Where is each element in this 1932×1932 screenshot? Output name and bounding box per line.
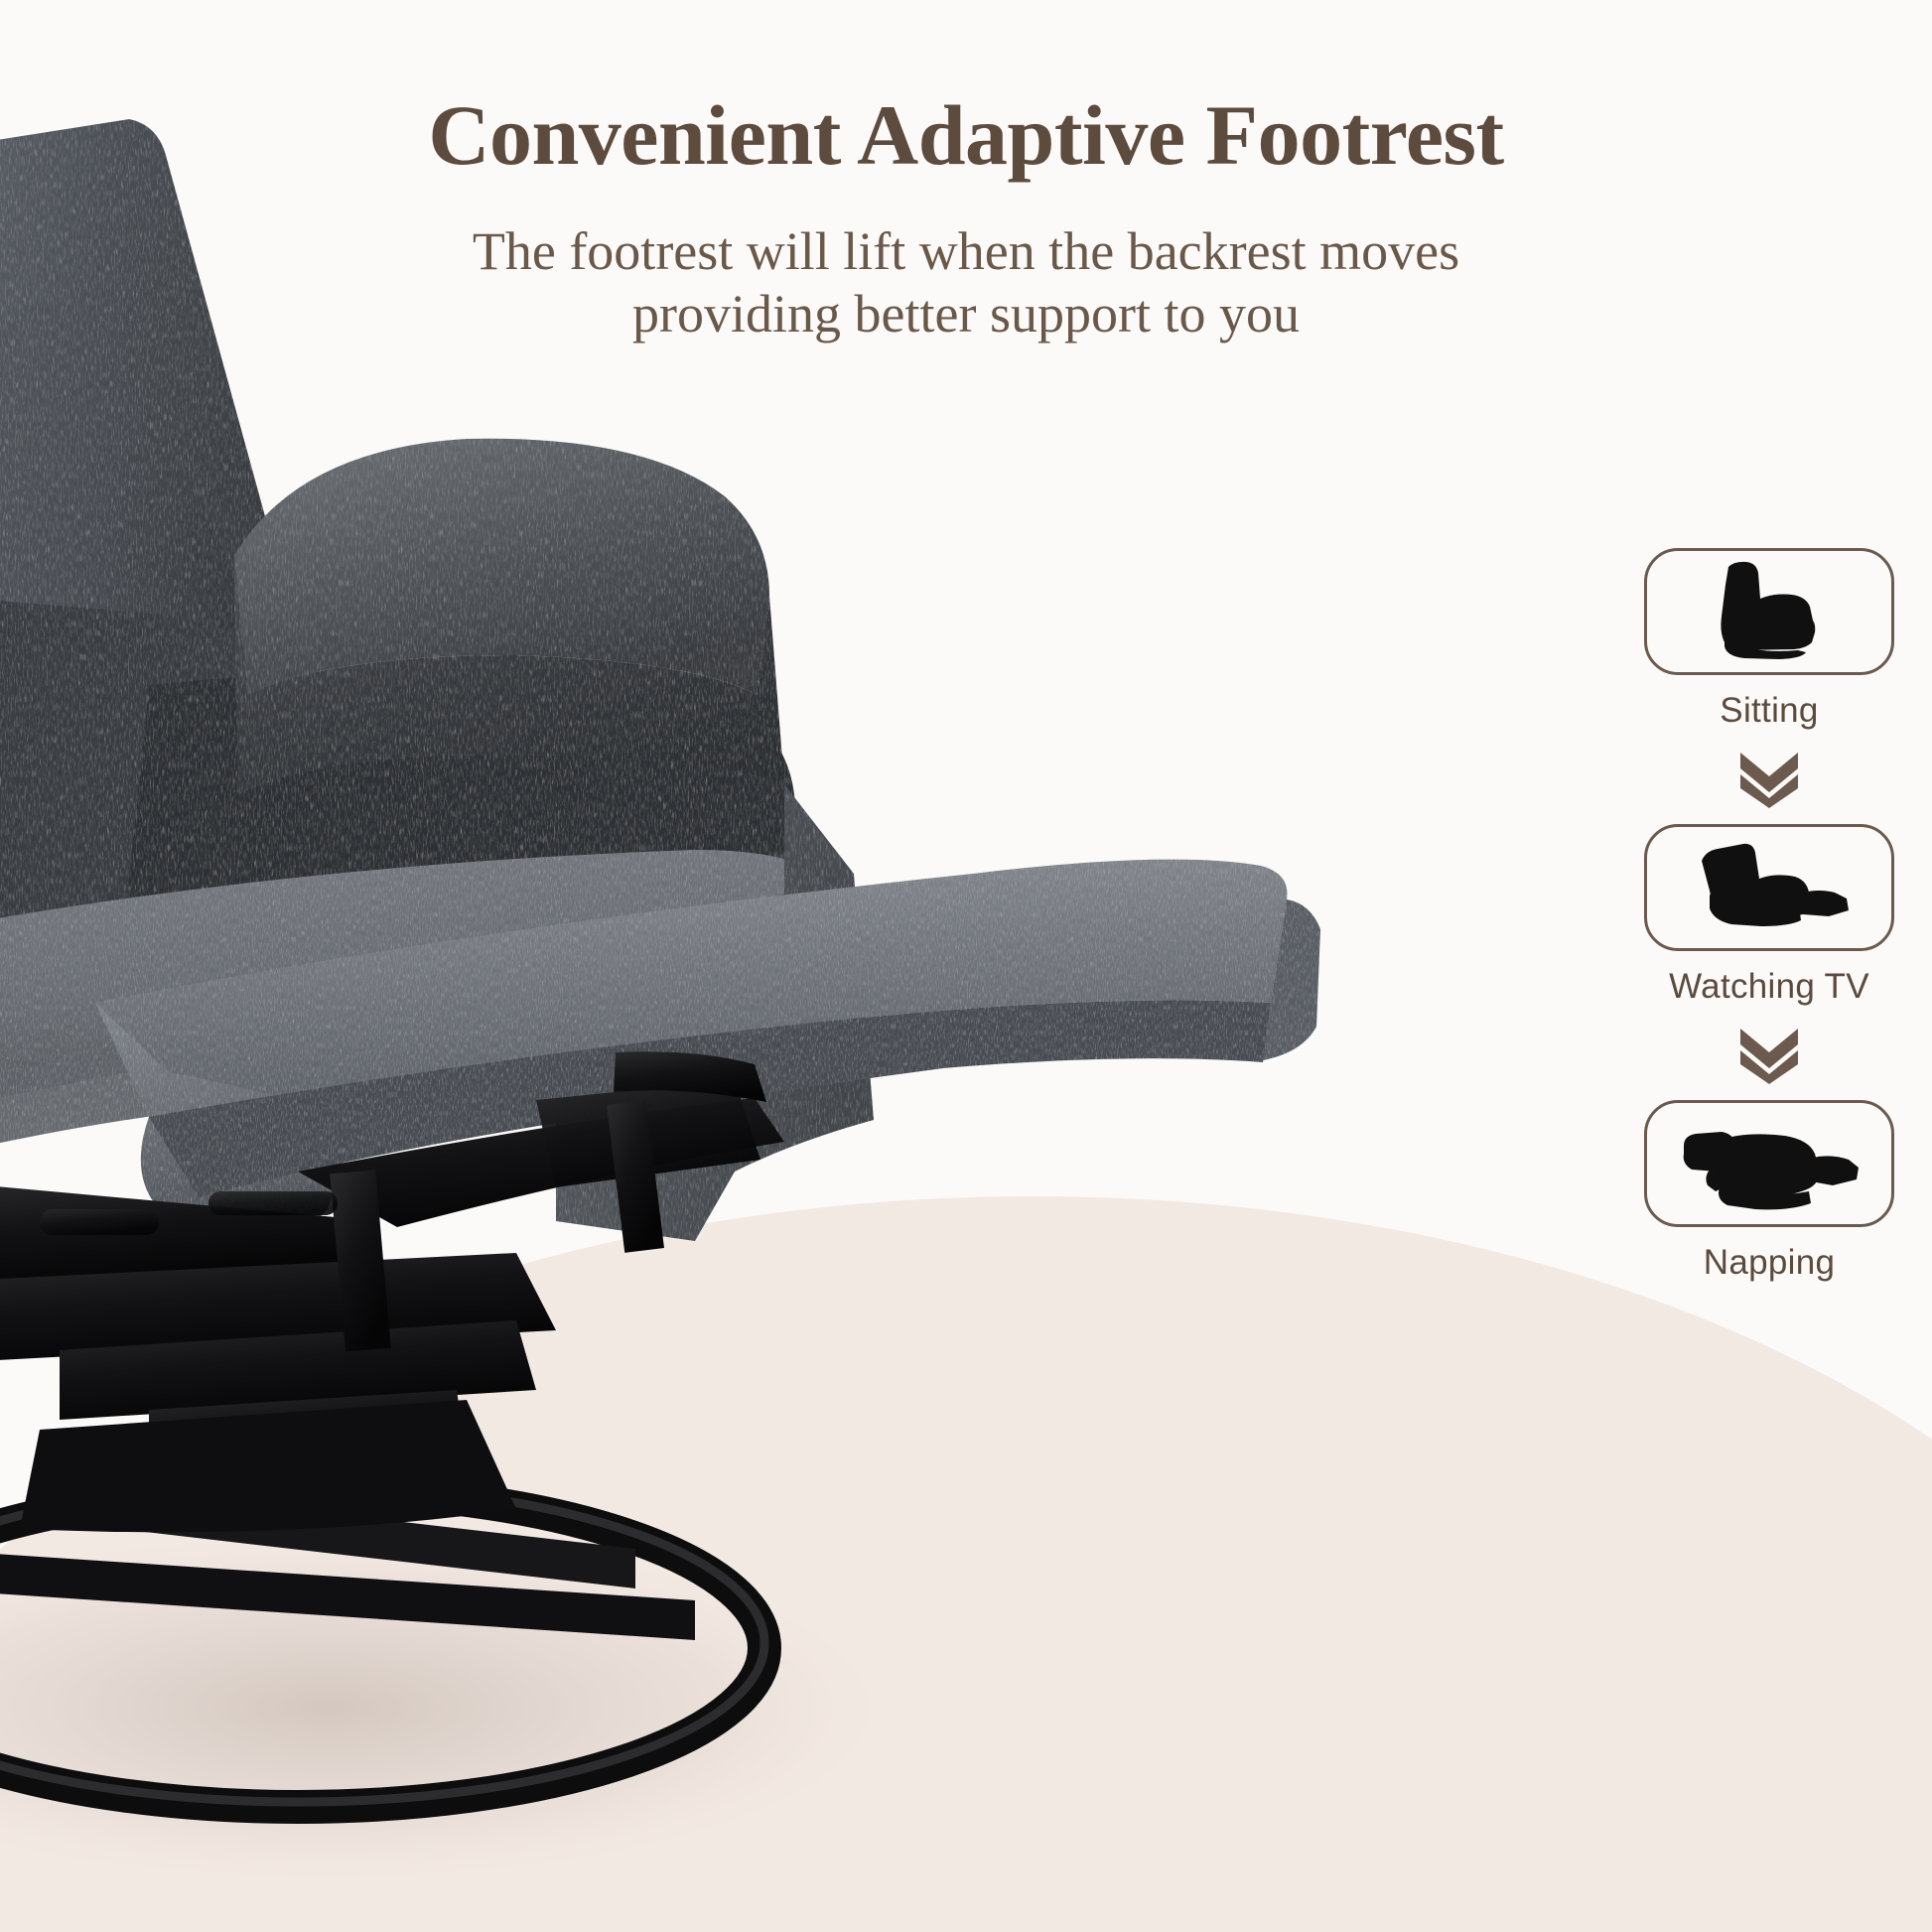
page-title: Convenient Adaptive Footrest [0, 85, 1932, 185]
state-card-watching-tv[interactable] [1644, 824, 1894, 951]
recliner-upright-icon [1695, 559, 1844, 664]
subtitle-line-2: providing better support to you [0, 283, 1932, 345]
recliner-position-sequence: Sitting Watching TV [1644, 548, 1894, 1283]
page-subtitle: The footrest will lift when the backrest… [0, 220, 1932, 345]
recliner-fully-reclined-icon [1674, 1112, 1864, 1215]
state-card-sitting[interactable] [1644, 548, 1894, 675]
recliner-partially-reclined-icon [1680, 835, 1859, 940]
double-chevron-down-icon-2 [1732, 1023, 1806, 1086]
state-label-napping: Napping [1704, 1243, 1835, 1283]
double-chevron-down-icon [1732, 747, 1806, 810]
marketing-image-canvas: Convenient Adaptive Footrest The footres… [0, 0, 1932, 1932]
base-plate [20, 1400, 516, 1532]
state-card-napping[interactable] [1644, 1100, 1894, 1227]
state-label-sitting: Sitting [1720, 691, 1818, 731]
subtitle-line-1: The footrest will lift when the backrest… [0, 220, 1932, 283]
state-label-watching-tv: Watching TV [1669, 967, 1869, 1007]
